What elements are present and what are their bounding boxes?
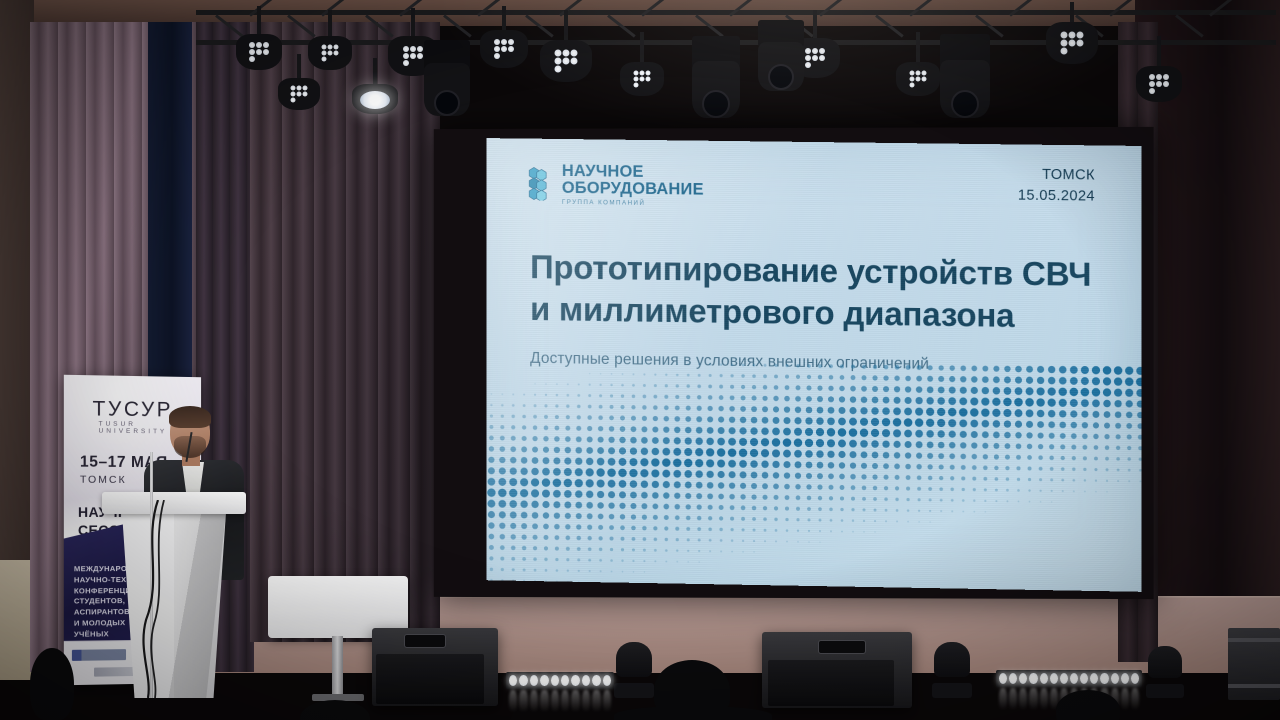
company-logo: НАУЧНОЕ ОБОРУДОВАНИЕ ГРУППА КОМПАНИЙ bbox=[528, 163, 704, 208]
stage-lamp-par bbox=[1046, 22, 1098, 64]
projection-screen: НАУЧНОЕ ОБОРУДОВАНИЕ ГРУППА КОМПАНИЙ ТОМ… bbox=[486, 138, 1141, 592]
led-bar-reflection bbox=[506, 690, 614, 712]
stage-lamp-par bbox=[620, 62, 664, 96]
stage-lamp-par bbox=[896, 62, 940, 96]
led-floor-bar bbox=[506, 672, 614, 689]
logo-tagline: ГРУППА КОМПАНИЙ bbox=[562, 199, 704, 207]
moving-head-light bbox=[692, 36, 740, 120]
stage-lamp-par bbox=[352, 84, 398, 114]
stage-lamp-par bbox=[480, 30, 528, 68]
audience-head-silhouette bbox=[300, 700, 370, 720]
moving-head-light bbox=[940, 34, 990, 120]
led-floor-bar bbox=[996, 670, 1142, 687]
floor-moving-head-light bbox=[616, 642, 652, 698]
lectern-podium bbox=[116, 492, 232, 698]
slide-content: НАУЧНОЕ ОБОРУДОВАНИЕ ГРУППА КОМПАНИЙ ТОМ… bbox=[486, 138, 1141, 592]
moving-head-light bbox=[758, 20, 804, 92]
stage-monitor-speaker bbox=[372, 628, 498, 706]
monitor-stand bbox=[332, 636, 343, 698]
stage-lamp-par bbox=[236, 34, 282, 70]
banner-city: ТОМСК bbox=[80, 474, 127, 486]
hexagon-cluster-icon bbox=[528, 167, 553, 201]
stage-lamp-par bbox=[308, 36, 352, 70]
moving-head-light bbox=[424, 40, 470, 118]
audience-shoulders-silhouette bbox=[614, 706, 772, 720]
floor-moving-head-light bbox=[934, 642, 970, 698]
scene-photograph: НАУЧНОЕ ОБОРУДОВАНИЕ ГРУППА КОМПАНИЙ ТОМ… bbox=[0, 0, 1280, 720]
floor-moving-head-light bbox=[1148, 646, 1182, 698]
curtain-center bbox=[250, 22, 440, 642]
stage-lamp-par bbox=[540, 40, 592, 82]
slide-location-date: ТОМСК 15.05.2024 bbox=[1018, 165, 1095, 208]
stage-lamp-par bbox=[1136, 66, 1182, 102]
microphone-cable bbox=[136, 500, 170, 698]
slide-city: ТОМСК bbox=[1018, 165, 1095, 187]
slide-title: Прототипирование устройств СВЧ и миллиме… bbox=[530, 246, 1102, 338]
stage-monitor-speaker bbox=[762, 632, 912, 708]
halftone-dot-wave-decoration bbox=[486, 356, 1141, 592]
stage-lamp-par bbox=[278, 78, 320, 110]
logo-line-2: ОБОРУДОВАНИЕ bbox=[562, 180, 704, 199]
slide-date: 15.05.2024 bbox=[1018, 186, 1095, 208]
equipment-road-case bbox=[1228, 628, 1280, 700]
audience-head-silhouette bbox=[30, 648, 74, 720]
